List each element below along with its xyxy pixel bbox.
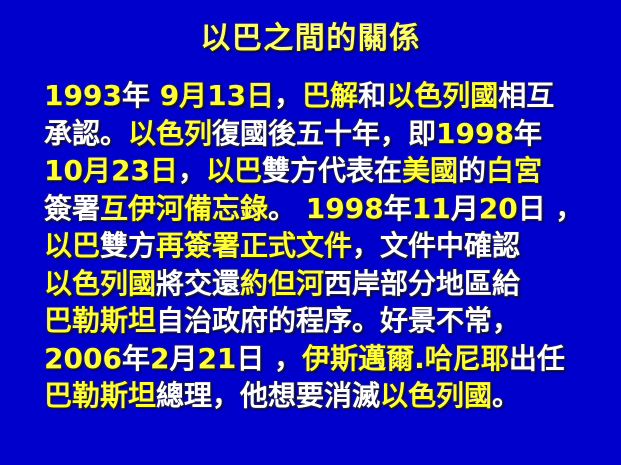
text-line: 2006年2月21日 ，伊斯邁爾.哈尼耶出任 (44, 340, 596, 378)
text-run: 年 (514, 117, 542, 150)
text-run: 總理，他想要消滅 (156, 379, 380, 412)
highlighted-text-run: 11 (412, 192, 451, 225)
text-run: 復國後五十年，即 (212, 117, 436, 150)
highlighted-text-run: 以巴 (206, 154, 262, 187)
highlighted-text-run: 1998 (436, 117, 514, 150)
text-line: 10月23日，以巴雙方代表在美國的白宮 (44, 152, 596, 190)
text-line: 1993年 9月13日，巴解和以色列國相互 (44, 77, 596, 115)
text-run: 。 (268, 192, 306, 225)
text-run: 和 (358, 79, 386, 112)
text-line: 巴勒斯坦自治政府的程序。好景不常， (44, 302, 596, 340)
highlighted-text-run: 21 (197, 342, 236, 375)
presentation-slide: 以巴之間的關係 1993年 9月13日，巴解和以色列國相互承認。以色列復國後五十… (0, 0, 621, 465)
highlighted-text-run: 1998 (306, 192, 384, 225)
text-run: ，文件中確認 (352, 229, 520, 262)
highlighted-text-run: 10月23日 (44, 154, 178, 187)
highlighted-text-run: 以色列國 (380, 379, 492, 412)
text-line: 承認。以色列復國後五十年，即1998年 (44, 115, 596, 153)
highlighted-text-run: 2006 (44, 342, 122, 375)
text-run: ， (178, 154, 206, 187)
highlighted-text-run: 巴解 (302, 79, 358, 112)
text-run: 年 (122, 342, 150, 375)
text-run: 雙方 (100, 229, 156, 262)
text-run: 年 (384, 192, 412, 225)
highlighted-text-run: 以色列 (128, 117, 212, 150)
highlighted-text-run: 以色列國 (44, 267, 156, 300)
highlighted-text-run: 巴勒斯坦 (44, 379, 156, 412)
highlighted-text-run: 再簽署正式文件 (156, 229, 352, 262)
highlighted-text-run: 以巴 (44, 229, 100, 262)
text-run: 年 (122, 79, 160, 112)
text-run: 出任 (509, 342, 565, 375)
highlighted-text-run: 白宮 (486, 154, 542, 187)
highlighted-text-run: 互伊河備忘錄 (100, 192, 268, 225)
text-run: 相互 (498, 79, 554, 112)
highlighted-text-run: 美國 (402, 154, 458, 187)
slide-body-text: 1993年 9月13日，巴解和以色列國相互承認。以色列復國後五十年，即1998年… (44, 77, 596, 415)
text-line: 簽署互伊河備忘錄。 1998年11月20日 ， (44, 190, 596, 228)
text-line: 巴勒斯坦總理，他想要消滅以色列國。 (44, 377, 596, 415)
highlighted-text-run: 伊斯邁爾.哈尼耶 (302, 342, 509, 375)
text-run: 日 ， (236, 342, 302, 375)
highlighted-text-run: 20 (479, 192, 518, 225)
text-run: ， (274, 79, 302, 112)
text-run: 月 (169, 342, 197, 375)
text-run: 雙方代表在 (262, 154, 402, 187)
text-run: 將交還 (156, 267, 240, 300)
highlighted-text-run: 約但河 (240, 267, 324, 300)
text-line: 以色列國將交還約但河西岸部分地區給 (44, 265, 596, 303)
text-run: 日 ， (518, 192, 584, 225)
slide-title: 以巴之間的關係 (0, 20, 621, 58)
highlighted-text-run: 2 (150, 342, 169, 375)
text-run: 自治政府的程序。好景不常， (156, 304, 520, 337)
text-line: 以巴雙方再簽署正式文件，文件中確認 (44, 227, 596, 265)
highlighted-text-run: 1993 (44, 79, 122, 112)
text-run: 月 (451, 192, 479, 225)
text-run: 西岸部分地區給 (324, 267, 520, 300)
text-run: 承認。 (44, 117, 128, 150)
highlighted-text-run: 以色列國 (386, 79, 498, 112)
highlighted-text-run: 9月13日 (160, 79, 274, 112)
text-run: 。 (492, 379, 520, 412)
text-run: 的 (458, 154, 486, 187)
text-run: 簽署 (44, 192, 100, 225)
highlighted-text-run: 巴勒斯坦 (44, 304, 156, 337)
